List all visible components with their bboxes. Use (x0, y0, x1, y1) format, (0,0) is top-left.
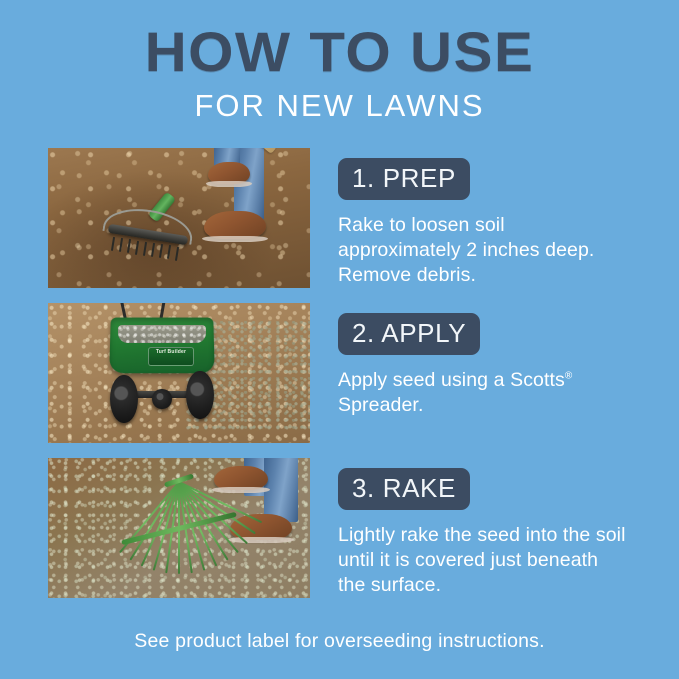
spreader-wheel (186, 371, 214, 419)
spreader-seed (118, 325, 206, 343)
step-1: 1. PREP Rake to loosen soil approximatel… (48, 148, 631, 288)
registered-trademark-symbol: ® (565, 371, 572, 382)
step-2-text: 2. APPLY Apply seed using a Scotts® Spre… (310, 303, 631, 418)
how-to-use-infographic: HOW TO USE FOR NEW LAWNS (0, 0, 679, 679)
page-title: HOW TO USE (0, 22, 679, 82)
page-subtitle: FOR NEW LAWNS (0, 88, 679, 124)
boot (204, 211, 266, 239)
step-3-description: Lightly rake the seed into the soil unti… (338, 523, 631, 598)
step-2-description-tail: Spreader. (338, 394, 423, 416)
step-3-photo (48, 458, 310, 598)
step-3: 3. RAKE Lightly rake the seed into the s… (48, 458, 631, 598)
shoe (214, 466, 268, 490)
steps-list: 1. PREP Rake to loosen soil approximatel… (48, 148, 631, 613)
spreader-wheel (110, 375, 138, 423)
step-3-badge: 3. RAKE (338, 468, 470, 510)
step-1-description: Rake to loosen soil approximately 2 inch… (338, 213, 631, 288)
leaf-rake-head (178, 482, 180, 484)
step-1-badge: 1. PREP (338, 158, 470, 200)
step-2: Turf Builder 2. APPLY Apply seed using a… (48, 303, 631, 443)
header: HOW TO USE FOR NEW LAWNS (0, 22, 679, 124)
step-1-text: 1. PREP Rake to loosen soil approximatel… (310, 148, 631, 288)
step-2-photo: Turf Builder (48, 303, 310, 443)
footer-note: See product label for overseeding instru… (0, 630, 679, 653)
step-1-photo (48, 148, 310, 288)
soil-texture (48, 148, 310, 288)
spreader-gear (152, 389, 172, 409)
step-3-text: 3. RAKE Lightly rake the seed into the s… (310, 458, 631, 598)
boot (208, 162, 250, 184)
step-2-description: Apply seed using a Scotts® Spreader. (338, 368, 631, 418)
step-2-description-main: Apply seed using a Scotts (338, 369, 565, 391)
spreader-logo: Turf Builder (148, 347, 194, 366)
step-2-badge: 2. APPLY (338, 313, 480, 355)
